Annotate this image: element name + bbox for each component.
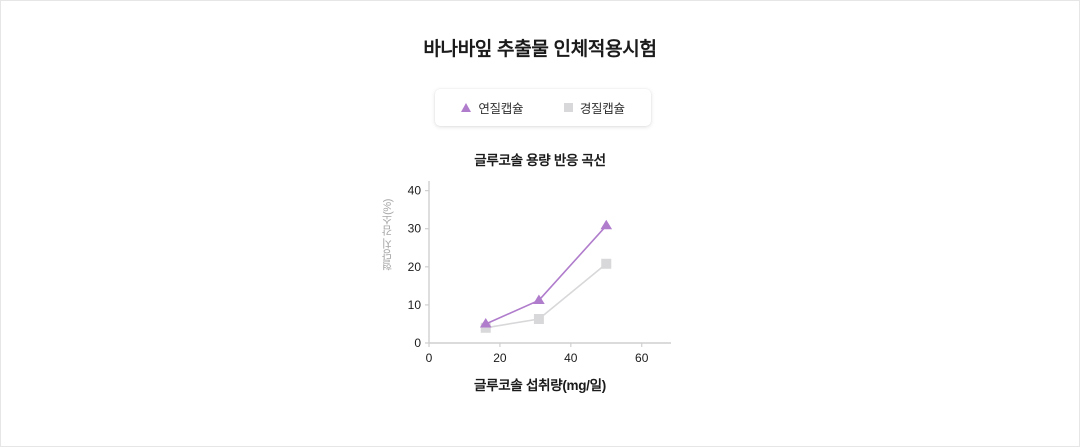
chart-title: 글루코솔 용량 반응 곡선 bbox=[1, 149, 1079, 169]
chart-legend: 연질캡슐 경질캡슐 bbox=[435, 89, 651, 126]
x-axis-tick-label: 40 bbox=[564, 351, 578, 365]
data-point-marker-triangle bbox=[600, 220, 612, 230]
x-axis-tick-label: 60 bbox=[635, 351, 649, 365]
triangle-marker-icon bbox=[461, 103, 471, 112]
legend-item-hard-capsule[interactable]: 경질캡슐 bbox=[564, 98, 625, 117]
x-axis-title: 글루코솔 섭취량(mg/일) bbox=[1, 374, 1079, 394]
legend-item-label: 연질캡슐 bbox=[478, 98, 523, 117]
series-line-soft-capsule bbox=[486, 226, 607, 324]
x-axis-tick-label: 20 bbox=[493, 351, 507, 365]
y-axis-tick-label: 0 bbox=[414, 336, 421, 350]
y-axis-tick-label: 20 bbox=[408, 260, 422, 274]
y-axis-tick-label: 40 bbox=[408, 184, 422, 198]
y-axis-tick-label: 30 bbox=[408, 222, 422, 236]
legend-item-soft-capsule[interactable]: 연질캡슐 bbox=[461, 98, 523, 117]
dose-response-line-chart: 0102030400204060 bbox=[371, 169, 701, 369]
square-marker-icon bbox=[564, 103, 573, 112]
series-line-hard-capsule bbox=[486, 264, 607, 328]
page-title: 바나바잎 추출물 인체적용시험 bbox=[1, 34, 1079, 61]
data-point-marker-square bbox=[601, 259, 611, 269]
data-point-marker-square bbox=[534, 314, 544, 324]
legend-item-label: 경질캡슐 bbox=[580, 98, 625, 117]
chart-plot-area: 0102030400204060 bbox=[371, 169, 701, 369]
y-axis-tick-label: 10 bbox=[408, 298, 422, 312]
x-axis-tick-label: 0 bbox=[426, 351, 433, 365]
screenshot-canvas: 바나바잎 추출물 인체적용시험 연질캡슐 경질캡슐 글루코솔 용량 반응 곡선 … bbox=[0, 0, 1080, 447]
